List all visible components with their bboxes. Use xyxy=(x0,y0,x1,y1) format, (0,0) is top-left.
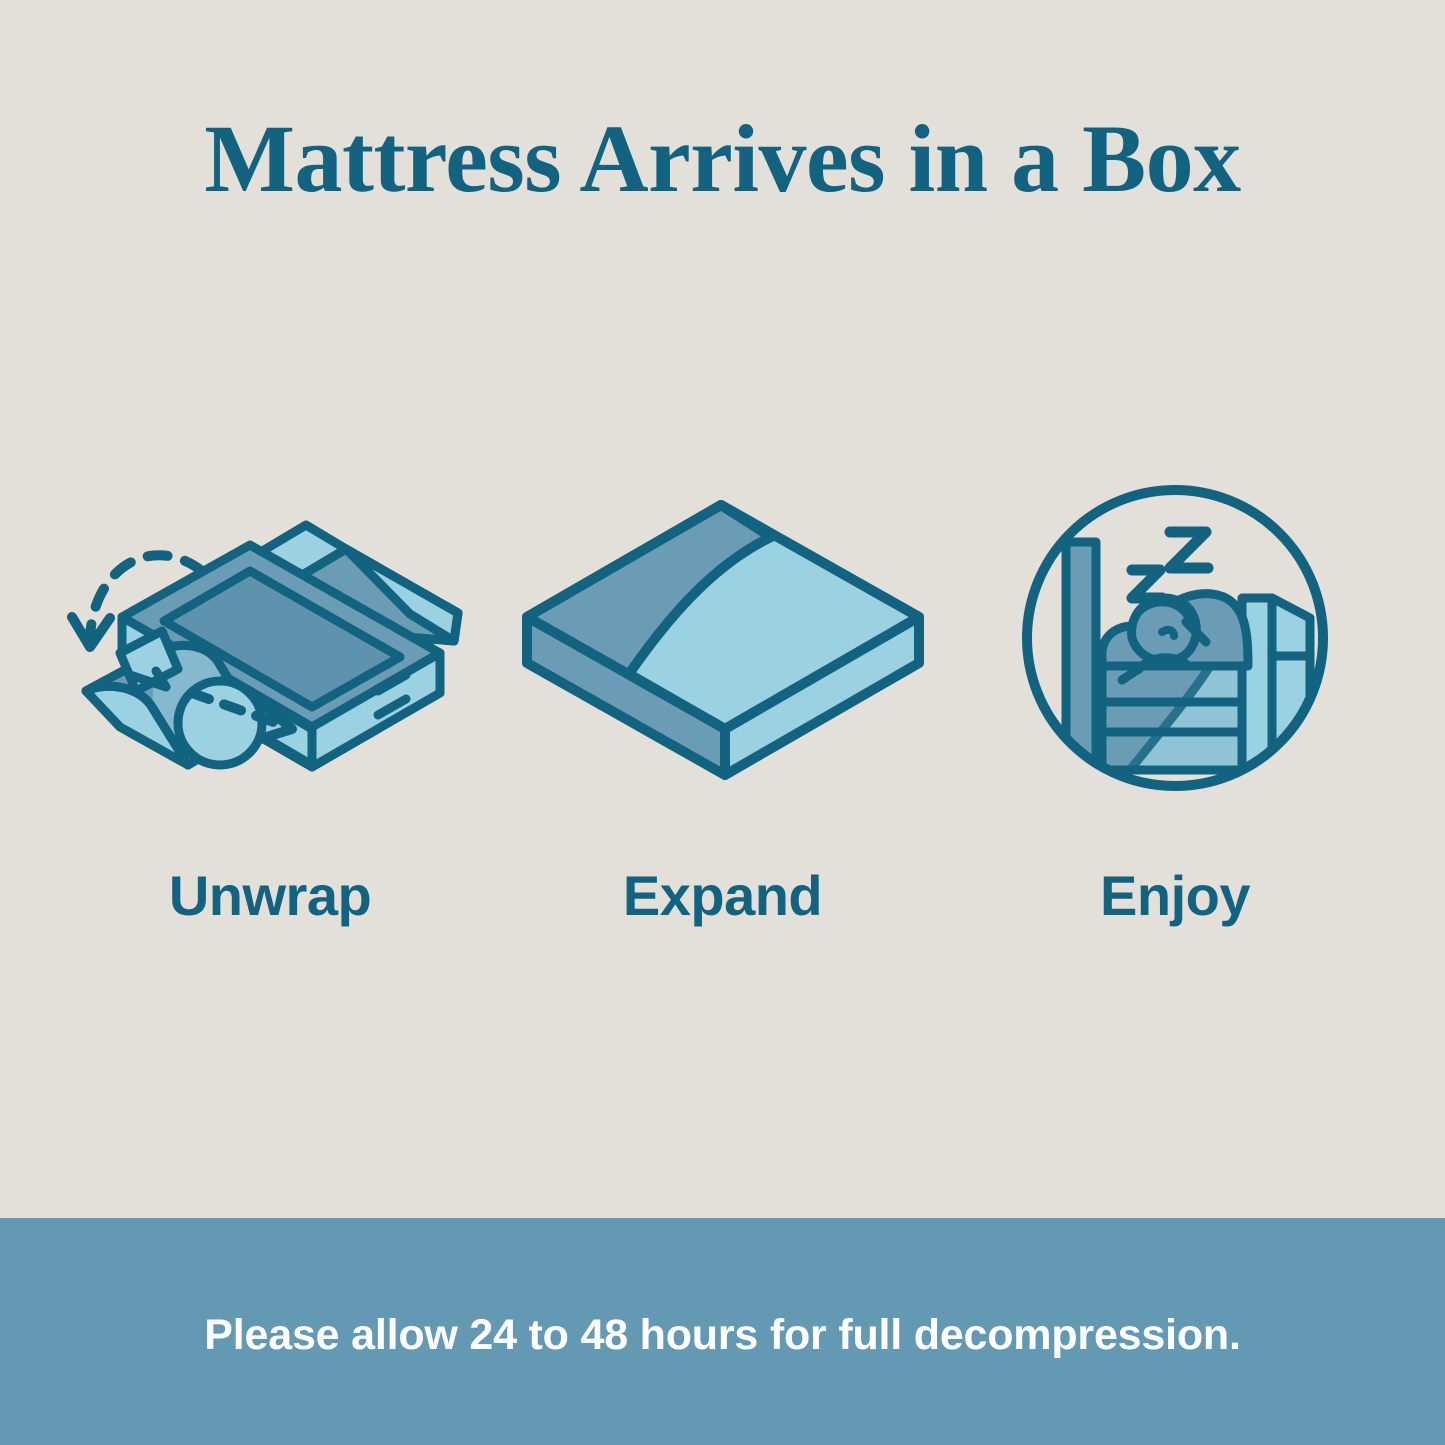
footer-band: Please allow 24 to 48 hours for full dec… xyxy=(0,1218,1445,1445)
step-label-enjoy: Enjoy xyxy=(1100,868,1250,924)
step-enjoy: Enjoy xyxy=(960,470,1390,924)
page-title: Mattress Arrives in a Box xyxy=(0,108,1445,210)
step-unwrap-art xyxy=(60,470,480,810)
step-enjoy-art xyxy=(1010,470,1340,810)
flat-mattress-slab-icon xyxy=(513,475,933,805)
infographic-page: Mattress Arrives in a Box xyxy=(0,0,1445,1445)
step-label-expand: Expand xyxy=(623,868,822,924)
person-sleeping-in-bed-icon xyxy=(1010,470,1340,810)
steps-row: Unwrap xyxy=(0,470,1445,924)
step-expand: Expand xyxy=(508,470,938,924)
step-unwrap: Unwrap xyxy=(55,470,485,924)
decompression-note: Please allow 24 to 48 hours for full dec… xyxy=(204,1306,1240,1357)
step-label-unwrap: Unwrap xyxy=(169,868,371,924)
step-expand-art xyxy=(513,470,933,810)
box-with-rolled-mattress-icon xyxy=(60,475,480,805)
page-title-container: Mattress Arrives in a Box xyxy=(0,108,1445,210)
